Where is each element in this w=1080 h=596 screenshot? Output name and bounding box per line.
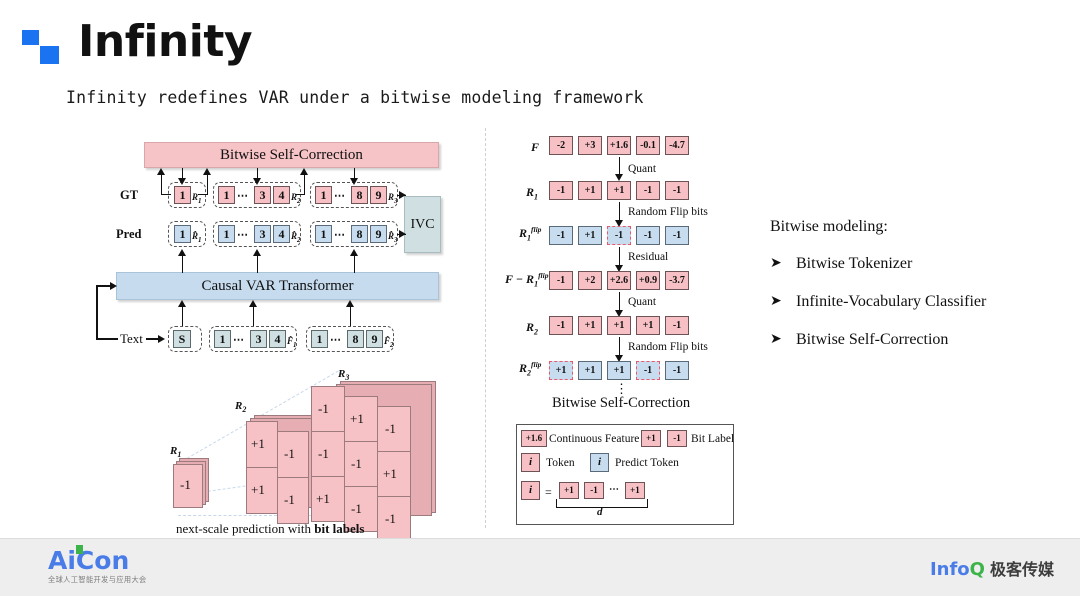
arrow-line xyxy=(182,306,184,326)
input-ellipsis: ⋯ xyxy=(233,333,245,346)
gt-cell: 9 xyxy=(370,186,387,204)
pyramid-value: +1 xyxy=(383,466,397,482)
input-ellipsis: ⋯ xyxy=(330,333,342,346)
pred-cell: 8 xyxy=(351,225,368,243)
row-label-residual: F − R1flip xyxy=(505,271,548,288)
legend-bit-label-swatch: -1 xyxy=(667,430,687,447)
r2-cell: -1 xyxy=(549,316,573,335)
bullet-label: Bitwise Tokenizer xyxy=(796,254,912,274)
legend-equals-sign: = xyxy=(545,485,552,500)
legend-token-label: Token xyxy=(546,457,575,469)
r1-cell: -1 xyxy=(549,181,573,200)
pyramid-value: -1 xyxy=(284,492,295,508)
arrow-head xyxy=(203,168,211,175)
pyramid-value: -1 xyxy=(385,421,396,437)
r1flip-cell: +1 xyxy=(578,226,602,245)
arrow-head xyxy=(110,282,117,290)
legend-token-glyph: i xyxy=(521,453,540,472)
arrow-label-residual: Residual xyxy=(628,251,668,263)
bullet-item-tokenizer: ➤ Bitwise Tokenizer xyxy=(770,254,1060,274)
r2flip-cell: +1 xyxy=(578,361,602,380)
legend-equation-glyph: i xyxy=(521,481,540,500)
pyramid-r2-label: R2 xyxy=(235,400,246,414)
arrow-line xyxy=(253,306,255,326)
r1flip-cell: -1 xyxy=(636,226,660,245)
legend-eq-cell: -1 xyxy=(584,482,604,499)
arrow-line xyxy=(96,338,118,340)
gt-cell: 1 xyxy=(315,186,332,204)
arrow-line xyxy=(257,255,259,273)
input-group-2-sub: F̂1 xyxy=(287,336,297,349)
arrow-line xyxy=(161,173,163,195)
page-title: Infinity xyxy=(78,16,252,67)
bullet-marker-icon: ➤ xyxy=(770,254,796,274)
gt-cell: 1 xyxy=(218,186,235,204)
input-cell: 9 xyxy=(366,330,383,348)
r1flip-cell: -1 xyxy=(665,226,689,245)
arrow-line xyxy=(161,194,171,196)
slide-header: Infinity Infinity redefines VAR under a … xyxy=(0,0,1080,78)
arrow-head xyxy=(615,174,623,181)
gt-cell: 3 xyxy=(254,186,271,204)
pyramid-value: -1 xyxy=(180,477,191,493)
legend-predict-token-label: Predict Token xyxy=(615,457,679,469)
r2flip-cell: -1 xyxy=(665,361,689,380)
arrow-line xyxy=(207,173,209,195)
arrow-head xyxy=(178,249,186,256)
infoq-q-text: Q xyxy=(970,559,985,580)
pred-cell: 1 xyxy=(174,225,191,243)
pyramid-value: +1 xyxy=(316,491,330,507)
bullet-label: Infinite-Vocabulary Classifier xyxy=(796,292,986,312)
pyramid-value: -1 xyxy=(385,511,396,527)
arrow-line xyxy=(295,194,305,196)
arrow-head xyxy=(249,300,257,307)
dimension-label: d xyxy=(597,506,603,518)
input-cell: 4 xyxy=(269,330,286,348)
arrow-label-flip-2: Random Flip bits xyxy=(628,341,708,353)
row-label-f: F xyxy=(531,140,539,155)
gt-ellipsis: ⋯ xyxy=(237,189,249,202)
legend-continuous-feature-swatch: +1.6 xyxy=(521,430,547,447)
gt-row-label: GT xyxy=(120,188,138,203)
pyramid-value: +1 xyxy=(350,411,364,427)
arrow-line xyxy=(182,255,184,273)
aicon-wordmark: AiCon xyxy=(48,548,147,574)
infoq-cn-text: 极客传媒 xyxy=(990,560,1054,579)
arrow-head xyxy=(346,300,354,307)
row-label-r1-flip: R1flip xyxy=(519,225,541,242)
r1flip-cell: -1 xyxy=(549,226,573,245)
legend-eq-cell: +1 xyxy=(559,482,579,499)
infinity-squares-icon xyxy=(22,30,62,64)
row-label-r2-flip: R2flip xyxy=(519,360,541,377)
r2-cell: -1 xyxy=(665,316,689,335)
r1-cell: -1 xyxy=(636,181,660,200)
pred-row-label: Pred xyxy=(116,227,141,242)
arrow-head xyxy=(253,178,261,185)
pyramid-value: -1 xyxy=(351,456,362,472)
row-label-r1: R1 xyxy=(526,185,538,201)
f-cell: -0.1 xyxy=(636,136,660,155)
r1-cell: +1 xyxy=(607,181,631,200)
r1flip-cell-flipped: -1 xyxy=(607,226,631,245)
f-cell: +3 xyxy=(578,136,602,155)
legend-eq-ellipsis: ⋯ xyxy=(609,484,620,495)
pred-cell: 9 xyxy=(370,225,387,243)
column-divider xyxy=(485,128,486,528)
legend-continuous-feature-label: Continuous Feature xyxy=(549,433,639,445)
residual-cell: +2 xyxy=(578,271,602,290)
pyramid-value: -1 xyxy=(284,446,295,462)
pred-cell: 4 xyxy=(273,225,290,243)
pyramid-value: -1 xyxy=(318,446,329,462)
r2-cell: +1 xyxy=(578,316,602,335)
residual-cell: +0.9 xyxy=(636,271,660,290)
arrow-line xyxy=(350,306,352,326)
right-bullet-panel: Bitwise modeling: ➤ Bitwise Tokenizer ➤ … xyxy=(770,218,1060,368)
arrow-head xyxy=(178,178,186,185)
arrow-head xyxy=(253,249,261,256)
r2flip-cell-flipped: +1 xyxy=(549,361,573,380)
r2flip-cell: +1 xyxy=(607,361,631,380)
r2-cell: +1 xyxy=(636,316,660,335)
bullet-item-self-correction: ➤ Bitwise Self-Correction xyxy=(770,330,1060,350)
r2flip-cell-flipped: -1 xyxy=(636,361,660,380)
r1-cell: -1 xyxy=(665,181,689,200)
bullet-marker-icon: ➤ xyxy=(770,330,796,350)
arrow-head xyxy=(399,191,406,199)
pred-ellipsis: ⋯ xyxy=(334,228,346,241)
input-cell: 1 xyxy=(214,330,231,348)
bullet-item-classifier: ➤ Infinite-Vocabulary Classifier xyxy=(770,292,1060,312)
pred-ellipsis: ⋯ xyxy=(237,228,249,241)
arrow-head xyxy=(350,249,358,256)
input-cell: 1 xyxy=(311,330,328,348)
arrow-label-flip-1: Random Flip bits xyxy=(628,206,708,218)
legend-bit-label-swatch: +1 xyxy=(641,430,661,447)
gt-cell: 4 xyxy=(273,186,290,204)
legend-bit-label-text: Bit Label xyxy=(691,433,734,445)
arrow-line xyxy=(198,194,208,196)
aicon-logo: AiCon 全球人工智能开发与应用大会 xyxy=(48,548,147,585)
arrow-head xyxy=(300,168,308,175)
pyramid-caption: next-scale prediction with bit labels xyxy=(176,521,364,537)
pyramid-value: +1 xyxy=(251,436,265,452)
pyramid-value: -1 xyxy=(318,401,329,417)
residual-cell: -3.7 xyxy=(665,271,689,290)
pyramid-value: -1 xyxy=(351,501,362,517)
input-cell: 3 xyxy=(250,330,267,348)
feedback-line xyxy=(96,286,98,339)
slide-footer xyxy=(0,538,1080,596)
f-cell: -2 xyxy=(549,136,573,155)
input-group-3-sub: F̂2 xyxy=(384,336,394,349)
arrow-head xyxy=(350,178,358,185)
ivc-box: IVC xyxy=(404,196,441,253)
start-token-cell: S xyxy=(173,330,191,348)
row-label-r2: R2 xyxy=(526,320,538,336)
pyramid-value: +1 xyxy=(251,482,265,498)
bullet-marker-icon: ➤ xyxy=(770,292,796,312)
input-cell: 8 xyxy=(347,330,364,348)
bullet-label: Bitwise Self-Correction xyxy=(796,330,948,350)
gt-ellipsis: ⋯ xyxy=(334,189,346,202)
residual-cell: +2.6 xyxy=(607,271,631,290)
pred-group-2-sub: R̂2 xyxy=(291,231,301,244)
page-subtitle: Infinity redefines VAR under a bitwise m… xyxy=(66,88,644,107)
pred-cell: 1 xyxy=(218,225,235,243)
aicon-tagline: 全球人工智能开发与应用大会 xyxy=(48,575,147,585)
pred-group-1-sub: R̂1 xyxy=(192,231,202,244)
pred-cell: 3 xyxy=(254,225,271,243)
gt-cell: 8 xyxy=(351,186,368,204)
legend-eq-cell: +1 xyxy=(625,482,645,499)
infoq-logo: InfoQ极客传媒 xyxy=(930,556,1054,580)
middle-diagram-caption: Bitwise Self-Correction xyxy=(552,395,690,412)
arrow-head xyxy=(178,300,186,307)
r1-cell: +1 xyxy=(578,181,602,200)
arrow-head xyxy=(399,230,406,238)
gt-cell: 1 xyxy=(174,186,191,204)
bitwise-self-correction-band: Bitwise Self-Correction xyxy=(144,142,439,168)
r2-cell: +1 xyxy=(607,316,631,335)
residual-cell: -1 xyxy=(549,271,573,290)
f-cell: +1.6 xyxy=(607,136,631,155)
arrow-line xyxy=(354,255,356,273)
causal-var-transformer-band: Causal VAR Transformer xyxy=(116,272,439,300)
arrow-head xyxy=(157,168,165,175)
arrow-label-quant-1: Quant xyxy=(628,163,656,175)
bullets-heading: Bitwise modeling: xyxy=(770,218,1060,236)
arrow-head xyxy=(158,335,165,343)
arrow-line xyxy=(304,173,306,195)
legend-predict-token-glyph: i xyxy=(590,453,609,472)
pred-cell: 1 xyxy=(315,225,332,243)
f-cell: -4.7 xyxy=(665,136,689,155)
arrow-label-quant-2: Quant xyxy=(628,296,656,308)
infoq-info-text: Info xyxy=(930,559,970,580)
text-input-label: Text xyxy=(120,331,143,347)
